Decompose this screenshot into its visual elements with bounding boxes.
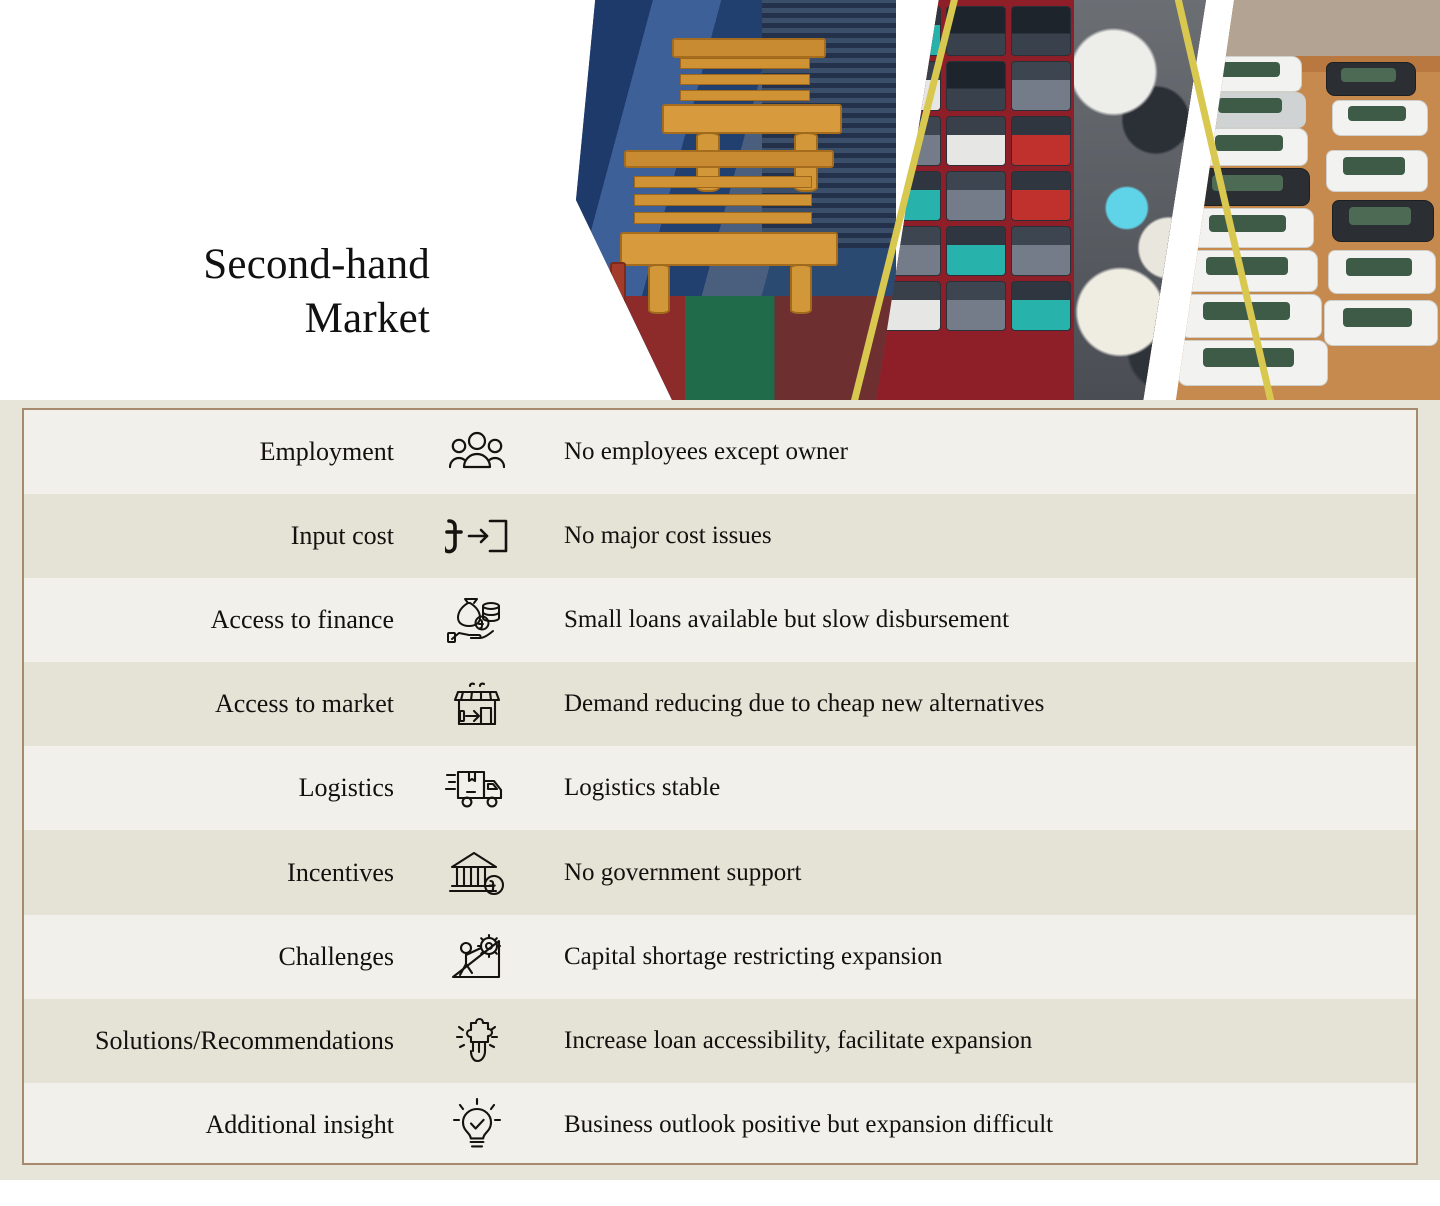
table-row: Challenges Capital shortage restricting … <box>24 915 1416 999</box>
page-title: Second-hand Market <box>60 238 430 346</box>
uphill-push-gear-icon <box>412 931 542 983</box>
furniture-market-photo <box>576 0 896 400</box>
table-row: Employment No employees except owner <box>24 410 1416 494</box>
people-group-icon <box>412 427 542 477</box>
bank-taka-icon <box>412 848 542 898</box>
row-value: Capital shortage restricting expansion <box>542 943 1416 971</box>
row-value: No government support <box>542 859 1416 887</box>
taka-input-arrow-icon <box>412 511 542 561</box>
table-row: Incentives No government support <box>24 830 1416 914</box>
row-label: Incentives <box>24 858 412 888</box>
page-title-line2: Market <box>60 292 430 346</box>
hand-puzzle-idea-icon <box>412 1015 542 1067</box>
row-label: Access to market <box>24 689 412 719</box>
photo-banner <box>576 0 1440 400</box>
row-value: Increase loan accessibility, facilitate … <box>542 1027 1416 1055</box>
header: Second-hand Market <box>0 0 1440 400</box>
mobile-phones-photo <box>876 0 1206 400</box>
table-row: Access to finance Small loans available … <box>24 578 1416 662</box>
table-row: Input cost No major cost issues <box>24 494 1416 578</box>
row-value: Logistics stable <box>542 774 1416 802</box>
row-label: Logistics <box>24 773 412 803</box>
table-row: Logistics Logistics stable <box>24 746 1416 830</box>
row-value: Business outlook positive but expansion … <box>542 1111 1416 1139</box>
delivery-truck-icon <box>412 764 542 812</box>
row-label: Access to finance <box>24 605 412 635</box>
table-row: Additional insight Business outlook posi… <box>24 1083 1416 1165</box>
row-label: Employment <box>24 437 412 467</box>
row-label: Additional insight <box>24 1110 412 1140</box>
row-label: Input cost <box>24 521 412 551</box>
money-bag-on-hand-icon <box>412 594 542 646</box>
table-row: Access to market Demand reducing due to … <box>24 662 1416 746</box>
row-value: Demand reducing due to cheap new alterna… <box>542 690 1416 718</box>
page-title-line1: Second-hand <box>60 238 430 292</box>
lightbulb-check-icon <box>412 1098 542 1152</box>
row-label: Solutions/Recommendations <box>24 1026 412 1056</box>
row-value: No employees except owner <box>542 438 1416 466</box>
row-value: No major cost issues <box>542 522 1416 550</box>
table-row: Solutions/Recommendations Increase loan … <box>24 999 1416 1083</box>
market-shop-icon <box>412 678 542 730</box>
attributes-table: Employment No employees except owner Inp… <box>22 408 1418 1165</box>
row-label: Challenges <box>24 942 412 972</box>
page-footer-strip <box>0 1180 1440 1206</box>
used-cars-photo <box>1176 0 1440 400</box>
row-value: Small loans available but slow disbursem… <box>542 606 1416 634</box>
